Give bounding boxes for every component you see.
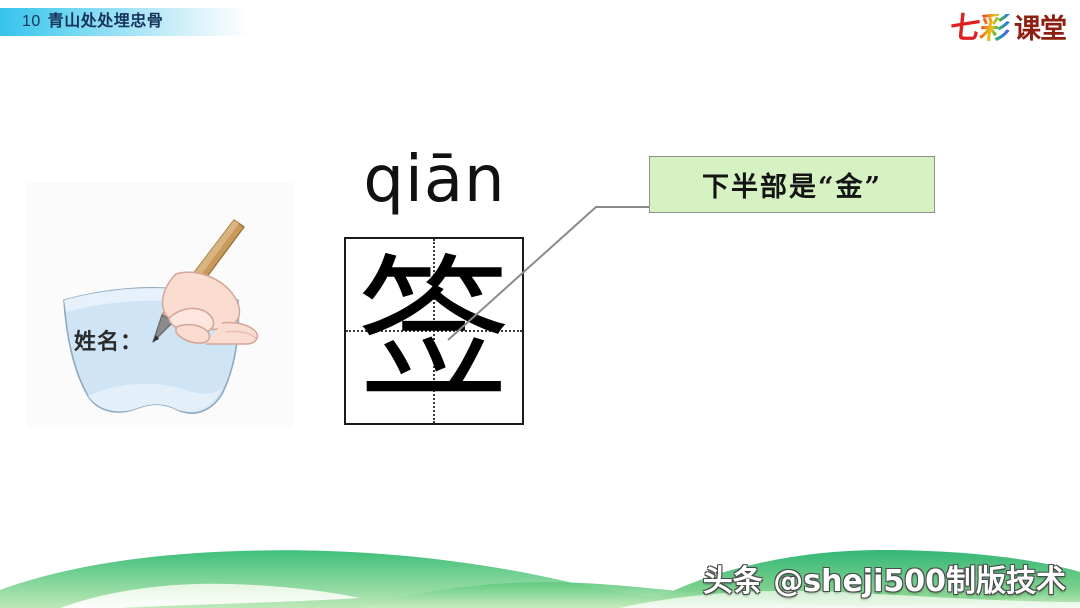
callout-text: 下半部是“金” — [702, 165, 882, 204]
callout-box: 下半部是“金” — [649, 156, 935, 213]
logo-text-ketang: 课堂 — [1014, 16, 1066, 43]
pinyin-label: qiān — [344, 146, 525, 214]
tianzige-character-box: 签 — [344, 237, 524, 425]
logo-char-cai: 彩 — [978, 14, 1011, 44]
lesson-title: 青山处处埋忠骨 — [48, 13, 164, 30]
brand-logo: 七 彩 课堂 — [950, 12, 1066, 46]
signing-illustration-svg: 姓名： — [26, 182, 294, 428]
logo-char-qi: 七 — [948, 14, 981, 44]
lesson-number: 10 — [22, 13, 41, 30]
target-character: 签 — [346, 239, 522, 423]
paper-name-label: 姓名： — [74, 329, 143, 355]
page-title: 10青山处处埋忠骨 — [22, 9, 163, 35]
watermark-text: 头条 @sheji500制版技术 — [703, 556, 1066, 600]
signing-illustration: 姓名： — [26, 182, 294, 428]
